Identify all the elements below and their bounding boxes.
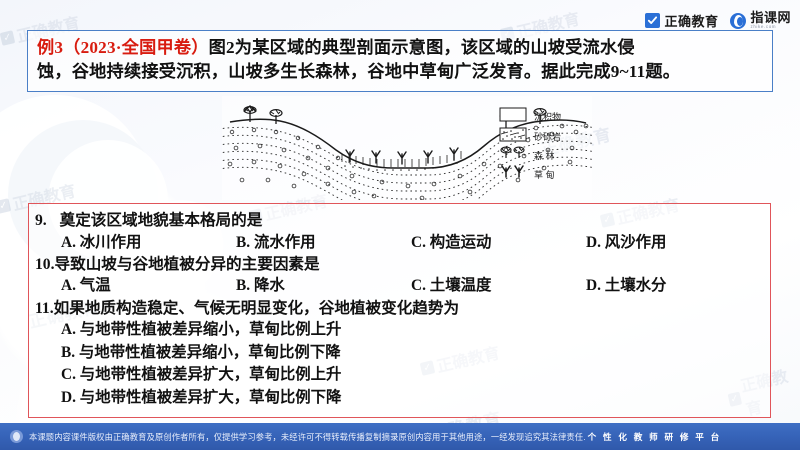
question-11-option-b[interactable]: B. 与地带性植被差异缩小，草甸比例下降 bbox=[35, 342, 770, 364]
question-9-option-a[interactable]: A. 冰川作用 bbox=[61, 232, 236, 253]
legend-label-forest: 森 林 bbox=[534, 149, 555, 162]
check-icon bbox=[645, 13, 660, 28]
question-10-stem: 10.导致山坡与谷地植被分异的主要因素是 bbox=[35, 254, 770, 276]
question-9-stem: 9. 奠定该区域地貌基本格局的是 bbox=[35, 210, 770, 232]
question-9-option-c[interactable]: C. 构造运动 bbox=[411, 232, 586, 253]
footer-slogan: 个 性 化 教 师 研 修 平 台 bbox=[588, 431, 722, 443]
legend-label-meadow: 草 甸 bbox=[534, 168, 555, 181]
stem-line-1: 例3（2023·全国甲卷）图2为某区域的典型剖面示意图，该区域的山坡受流水侵 bbox=[37, 36, 764, 60]
geology-cross-section-figure: 沉积物 砂砾岩 森 林 草 甸 bbox=[222, 96, 592, 200]
question-11-text: 如果地质构造稳定、气候无明显变化，谷地植被变化趋势为 bbox=[54, 300, 459, 317]
question-9-number: 9. bbox=[35, 212, 47, 229]
zhike-circle-icon bbox=[10, 430, 23, 443]
slide-canvas: ✓ 正确教育 ✓ 正确教育 ✓ 正确教育 ✓ 正确教育 ✓ 正确教育 ✓ 正确教… bbox=[0, 0, 800, 450]
question-10: 10.导致山坡与谷地植被分异的主要因素是 A. 气温 B. 降水 C. 土壤温度… bbox=[35, 254, 770, 297]
question-11-option-c[interactable]: C. 与地带性植被差异扩大，草甸比例上升 bbox=[35, 364, 770, 386]
legend-label-sediment: 沉积物 bbox=[534, 110, 561, 123]
question-11: 11.如果地质构造稳定、气候无明显变化，谷地植被变化趋势为 A. 与地带性植被差… bbox=[35, 298, 770, 409]
question-10-number: 10. bbox=[35, 256, 55, 273]
circle-swirl-icon bbox=[730, 13, 746, 29]
question-10-option-d[interactable]: D. 土壤水分 bbox=[586, 275, 666, 296]
questions-box: 9. 奠定该区域地貌基本格局的是 A. 冰川作用 B. 流水作用 C. 构造运动… bbox=[28, 203, 771, 418]
question-11-option-a[interactable]: A. 与地带性植被差异缩小，草甸比例上升 bbox=[35, 319, 770, 341]
question-9: 9. 奠定该区域地貌基本格局的是 A. 冰川作用 B. 流水作用 C. 构造运动… bbox=[35, 210, 770, 253]
question-9-options: A. 冰川作用 B. 流水作用 C. 构造运动 D. 风沙作用 bbox=[35, 232, 770, 253]
watermark-check-icon: ✓ bbox=[0, 30, 15, 46]
legend-label-sandstone: 砂砾岩 bbox=[534, 130, 561, 143]
question-stem-box: 例3（2023·全国甲卷）图2为某区域的典型剖面示意图，该区域的山坡受流水侵 蚀… bbox=[27, 30, 773, 92]
question-10-text: 导致山坡与谷地植被分异的主要因素是 bbox=[55, 256, 320, 273]
question-10-option-b[interactable]: B. 降水 bbox=[236, 275, 411, 296]
logo-zhengque-jiaoyu[interactable]: 正确教育 bbox=[645, 11, 718, 30]
question-11-number: 11. bbox=[35, 300, 54, 317]
stem-source-label: 例3（2023·全国甲卷） bbox=[37, 38, 209, 57]
logo-label: 正确教育 bbox=[664, 11, 718, 30]
question-9-option-d[interactable]: D. 风沙作用 bbox=[586, 232, 666, 253]
question-10-option-a[interactable]: A. 气温 bbox=[61, 275, 236, 296]
logo-zhike-wang[interactable]: 指课网 zhike.com bbox=[730, 11, 791, 30]
logo-label: 指课网 bbox=[750, 11, 791, 24]
footer-bar: 本课题内容课件版权由正确教育及原创作者所有，仅提供学习参考，未经许可不得转载传播… bbox=[0, 423, 800, 450]
question-11-option-d[interactable]: D. 与地带性植被差异扩大，草甸比例下降 bbox=[35, 387, 770, 409]
stem-line-2: 蚀，谷地持续接受沉积，山坡多生长森林，谷地中草甸广泛发育。据此完成9~11题。 bbox=[37, 60, 764, 84]
logo-domain: zhike.com bbox=[750, 25, 791, 30]
header-logo-bar: 正确教育 指课网 zhike.com bbox=[645, 11, 791, 30]
question-9-option-b[interactable]: B. 流水作用 bbox=[236, 232, 411, 253]
copyright-notice: 本课题内容课件版权由正确教育及原创作者所有，仅提供学习参考，未经许可不得转载传播… bbox=[29, 431, 586, 443]
question-10-options: A. 气温 B. 降水 C. 土壤温度 D. 土壤水分 bbox=[35, 275, 770, 296]
question-11-stem: 11.如果地质构造稳定、气候无明显变化，谷地植被变化趋势为 bbox=[35, 298, 770, 320]
stem-line-1-text: 图2为某区域的典型剖面示意图，该区域的山坡受流水侵 bbox=[209, 38, 635, 57]
question-10-option-c[interactable]: C. 土壤温度 bbox=[411, 275, 586, 296]
question-9-text: 奠定该区域地貌基本格局的是 bbox=[60, 212, 263, 229]
